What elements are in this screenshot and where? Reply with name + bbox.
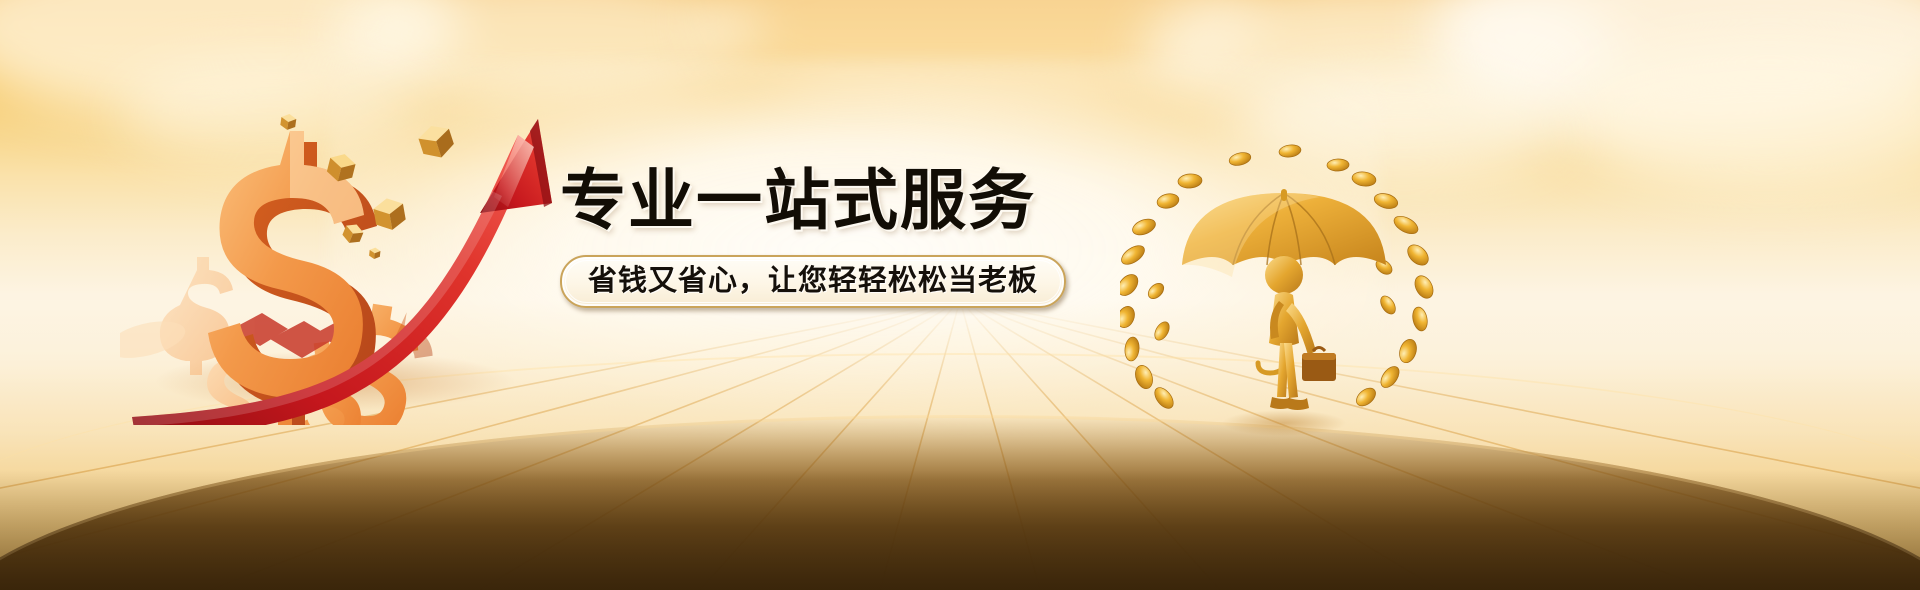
- dollar-stack-icon: [120, 95, 580, 425]
- banner-subtitle: 省钱又省心，让您轻轻松松当老板: [588, 264, 1038, 297]
- coin-rain-left: [1120, 173, 1202, 412]
- golden-person-icon: [1265, 256, 1336, 410]
- umbrella-figure-icon: [1120, 105, 1450, 445]
- umbrella-man-illustration: [1120, 105, 1450, 445]
- banner-text-block: 专业一站式服务 省钱又省心，让您轻轻松松当老板: [560, 168, 1080, 308]
- dollar-pile-illustration: [120, 95, 580, 425]
- banner-subtitle-pill: 省钱又省心，让您轻轻松松当老板: [560, 255, 1066, 308]
- bottom-vignette: [0, 470, 1920, 590]
- banner-headline: 专业一站式服务: [560, 168, 1080, 234]
- promo-banner: 专业一站式服务 省钱又省心，让您轻轻松松当老板: [0, 0, 1920, 590]
